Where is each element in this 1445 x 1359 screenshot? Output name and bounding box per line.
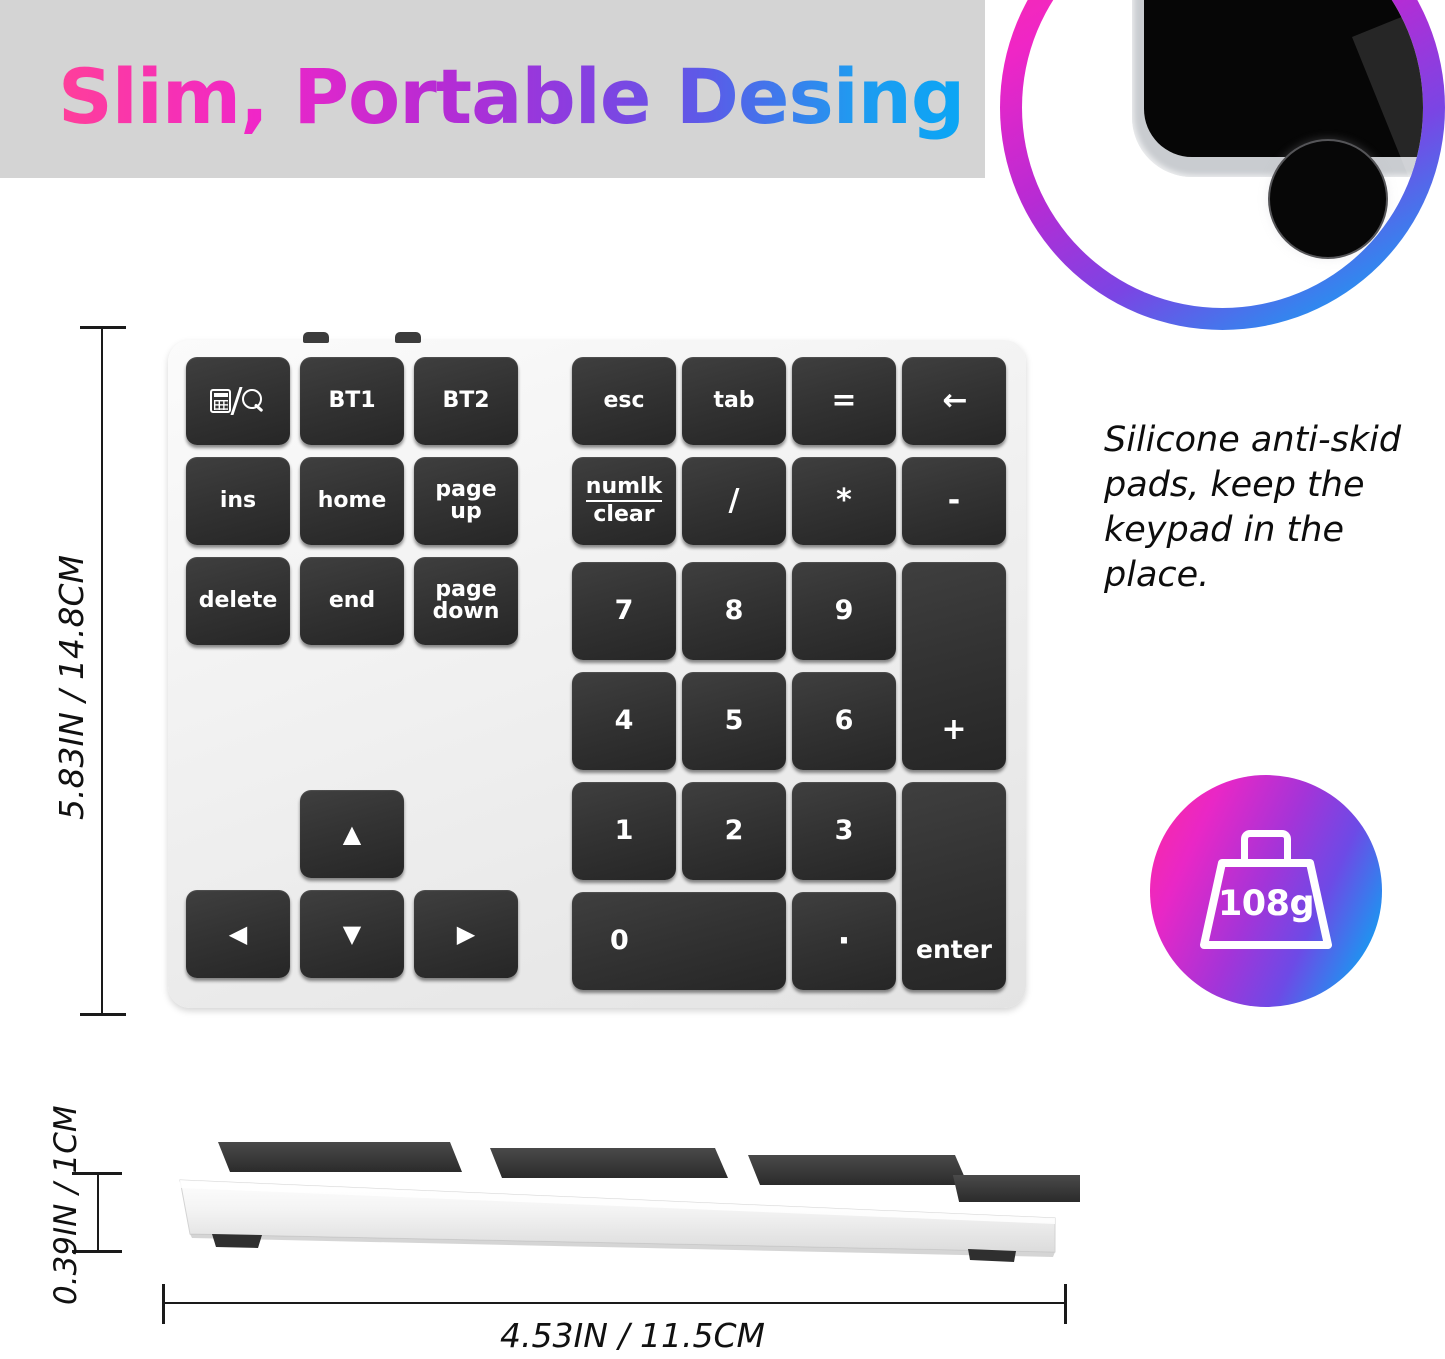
key-esc[interactable]: esc [572,357,676,445]
weight-icon: 108g [1200,830,1332,952]
key-8[interactable]: 8 [682,562,786,660]
arrow-left-icon: ◀ [229,922,247,946]
key-label-bottom: up [450,501,481,523]
key-label: esc [603,390,644,412]
key-label: end [329,590,375,612]
weight-value: 108g [1200,884,1332,924]
power-switch-nub [303,332,329,343]
key-label: 1 [615,817,634,845]
key-label: home [318,490,387,512]
height-dim-cap-bottom [80,1013,126,1016]
key-label-bottom: clear [593,504,654,526]
key-page-down[interactable]: page down [414,557,518,645]
key-end[interactable]: end [300,557,404,645]
key-label-top: page [435,579,496,601]
key-numlk-clear[interactable]: numlk clear [572,457,676,545]
page-title: Slim, Portable Desing [58,52,964,141]
width-dim-line [162,1302,1067,1304]
key-divide[interactable]: / [682,457,786,545]
key-label: BT1 [328,390,375,412]
key-label: delete [199,590,278,612]
key-label: 2 [725,817,744,845]
key-arrow-left[interactable]: ◀ [186,890,290,978]
keypad-side-view [150,1130,1110,1280]
width-dimension-label: 4.53IN / 11.5CM [500,1316,765,1355]
key-label: 4 [615,707,634,735]
backspace-arrow-icon: ← [942,386,965,417]
key-label: 0 [610,927,629,955]
key-equals[interactable]: = [792,357,896,445]
key-label: enter [916,937,992,963]
key-6[interactable]: 6 [792,672,896,770]
key-label: / [729,486,740,517]
key-0[interactable]: 0 [572,892,786,990]
key-minus[interactable]: - [902,457,1006,545]
key-label: 5 [725,707,744,735]
key-delete[interactable]: delete [186,557,290,645]
width-dim-cap-right [1064,1284,1067,1324]
key-backspace[interactable]: ← [902,357,1006,445]
weight-badge: 108g [1150,775,1382,1007]
key-tab[interactable]: tab [682,357,786,445]
numeric-keypad-top-view: BT1 BT2 ins home page up delete end page… [168,340,1026,1008]
key-bt2[interactable]: BT2 [414,357,518,445]
home-button-icon [1268,139,1388,259]
key-label: ins [220,490,256,512]
key-page-up[interactable]: page up [414,457,518,545]
key-decimal[interactable]: · [792,892,896,990]
key-label: - [948,486,960,517]
key-ins[interactable]: ins [186,457,290,545]
key-7[interactable]: 7 [572,562,676,660]
key-label: 9 [835,597,854,625]
usb-port-nub [395,332,421,343]
key-4[interactable]: 4 [572,672,676,770]
key-label: 7 [615,597,634,625]
key-arrow-right[interactable]: ▶ [414,890,518,978]
key-1[interactable]: 1 [572,782,676,880]
key-label: tab [713,390,754,412]
key-label: BT2 [442,390,489,412]
feature-description: Silicone anti-skid pads, keep the keypad… [1104,418,1434,599]
arrow-up-icon: ▲ [343,822,361,846]
key-multiply[interactable]: * [792,457,896,545]
arrow-right-icon: ▶ [457,922,475,946]
key-enter[interactable]: enter [902,782,1006,990]
key-label-top: page [435,479,496,501]
thickness-dim-line [97,1172,99,1252]
key-3[interactable]: 3 [792,782,896,880]
key-2[interactable]: 2 [682,782,786,880]
key-9[interactable]: 9 [792,562,896,660]
calculator-search-icon [210,387,266,415]
height-dim-cap-top [80,326,126,329]
width-dim-cap-left [162,1284,165,1324]
height-dimension-label: 5.83IN / 14.8CM [52,555,91,820]
height-dim-line [101,326,103,1016]
key-label: 3 [835,817,854,845]
key-5[interactable]: 5 [682,672,786,770]
key-arrow-up[interactable]: ▲ [300,790,404,878]
key-arrow-down[interactable]: ▼ [300,890,404,978]
phone-photo-circle [1000,0,1445,330]
key-label: = [831,386,856,417]
key-label: 6 [835,707,854,735]
key-label-top: numlk [586,476,662,501]
arrow-down-icon: ▼ [343,922,361,946]
key-label: · [838,924,851,959]
key-bt1[interactable]: BT1 [300,357,404,445]
key-label: * [836,486,852,517]
key-label: 8 [725,597,744,625]
key-label: + [941,715,966,746]
thickness-dimension-label: 0.39IN / 1CM [48,1105,84,1305]
key-plus[interactable]: + [902,562,1006,770]
side-view-illustration [150,1130,1110,1280]
key-label-bottom: down [433,601,500,623]
key-calc-search[interactable] [186,357,290,445]
key-home[interactable]: home [300,457,404,545]
